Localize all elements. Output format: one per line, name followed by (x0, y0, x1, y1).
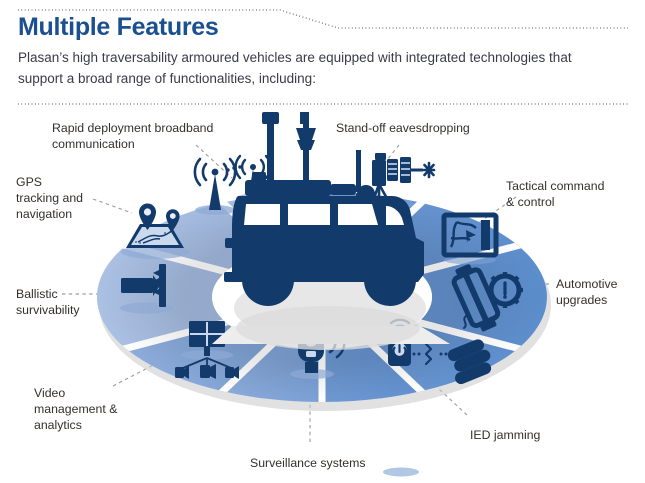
label-gps-tracking: GPS tracking and navigation (16, 174, 106, 223)
label-video-management: Video management & analytics (34, 385, 144, 434)
infographic-page: Multiple Features Plasan’s high traversa… (0, 0, 645, 483)
label-rapid-deployment: Rapid deployment broadband communication (52, 120, 252, 152)
label-ballistic: Ballistic survivability (16, 286, 112, 318)
label-tactical-command: Tactical command & control (506, 178, 634, 210)
label-eavesdropping: Stand-off eavesdropping (336, 120, 506, 136)
page-title: Multiple Features (18, 14, 219, 42)
label-ied-jamming: IED jamming (470, 427, 590, 443)
label-automotive: Automotive upgrades (556, 276, 642, 308)
label-surveillance: Surveillance systems (250, 455, 410, 471)
header-bottom-dotted-rule (18, 100, 628, 108)
intro-paragraph: Plasan’s high traversability armoured ve… (18, 48, 608, 90)
